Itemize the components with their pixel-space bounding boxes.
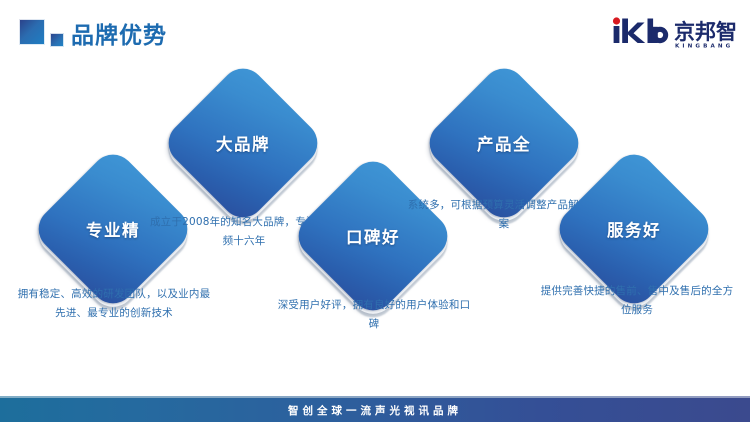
advantage-caption-3: 深受用户好评，拥有良好的用户体验和口碑 xyxy=(276,296,472,334)
advantages-diagram: 专业精 拥有稳定、高效的研发团队，以及业内最先进、最专业的创新技术 大品牌 成立… xyxy=(0,0,750,422)
advantage-card-2[interactable]: 大品牌 xyxy=(184,84,302,202)
diamond-tile-2[interactable]: 大品牌 xyxy=(184,84,302,202)
diamond-tile-4[interactable]: 产品全 xyxy=(445,84,563,202)
footer-slogan: 智创全球一流声光视讯品牌 xyxy=(0,398,750,422)
advantage-label-4: 产品全 xyxy=(445,84,563,202)
diamond-tile-3[interactable]: 口碑好 xyxy=(314,177,432,295)
advantage-label-2: 大品牌 xyxy=(184,84,302,202)
advantage-caption-5: 提供完善快捷的售前、售中及售后的全方位服务 xyxy=(537,282,737,320)
advantage-card-3[interactable]: 口碑好 xyxy=(314,177,432,295)
advantage-card-4[interactable]: 产品全 xyxy=(445,84,563,202)
advantage-caption-1: 拥有稳定、高效的研发团队，以及业内最先进、最专业的创新技术 xyxy=(14,285,214,323)
advantage-label-3: 口碑好 xyxy=(314,177,432,295)
advantage-card-5[interactable]: 服务好 xyxy=(575,170,693,288)
diamond-tile-5[interactable]: 服务好 xyxy=(575,170,693,288)
page-footer: 智创全球一流声光视讯品牌 xyxy=(0,398,750,422)
advantage-label-5: 服务好 xyxy=(575,170,693,288)
